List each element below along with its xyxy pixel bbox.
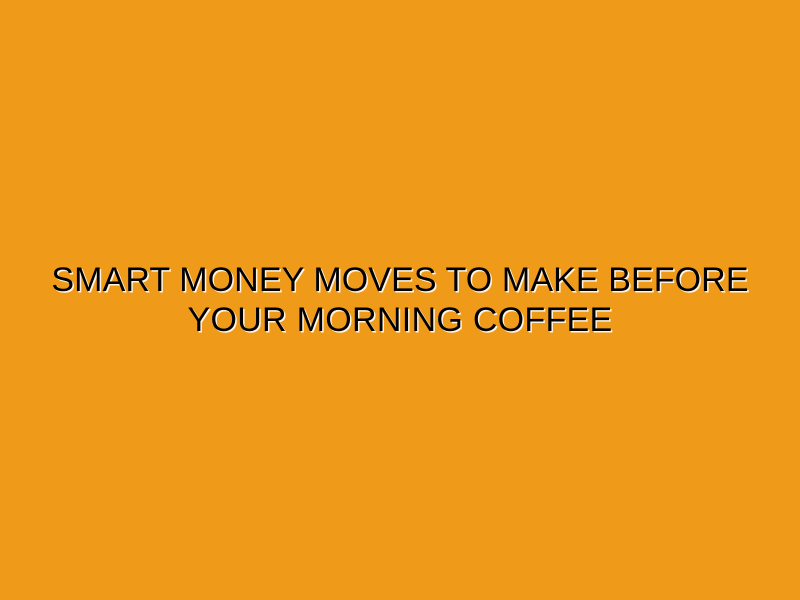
headline-block: SMART MONEY MOVES TO MAKE BEFORE YOUR MO… [40,260,760,340]
headline-line-2: YOUR MORNING COFFEE [40,300,760,340]
title-card: SMART MONEY MOVES TO MAKE BEFORE YOUR MO… [0,0,800,600]
headline-line-1: SMART MONEY MOVES TO MAKE BEFORE [40,260,760,300]
